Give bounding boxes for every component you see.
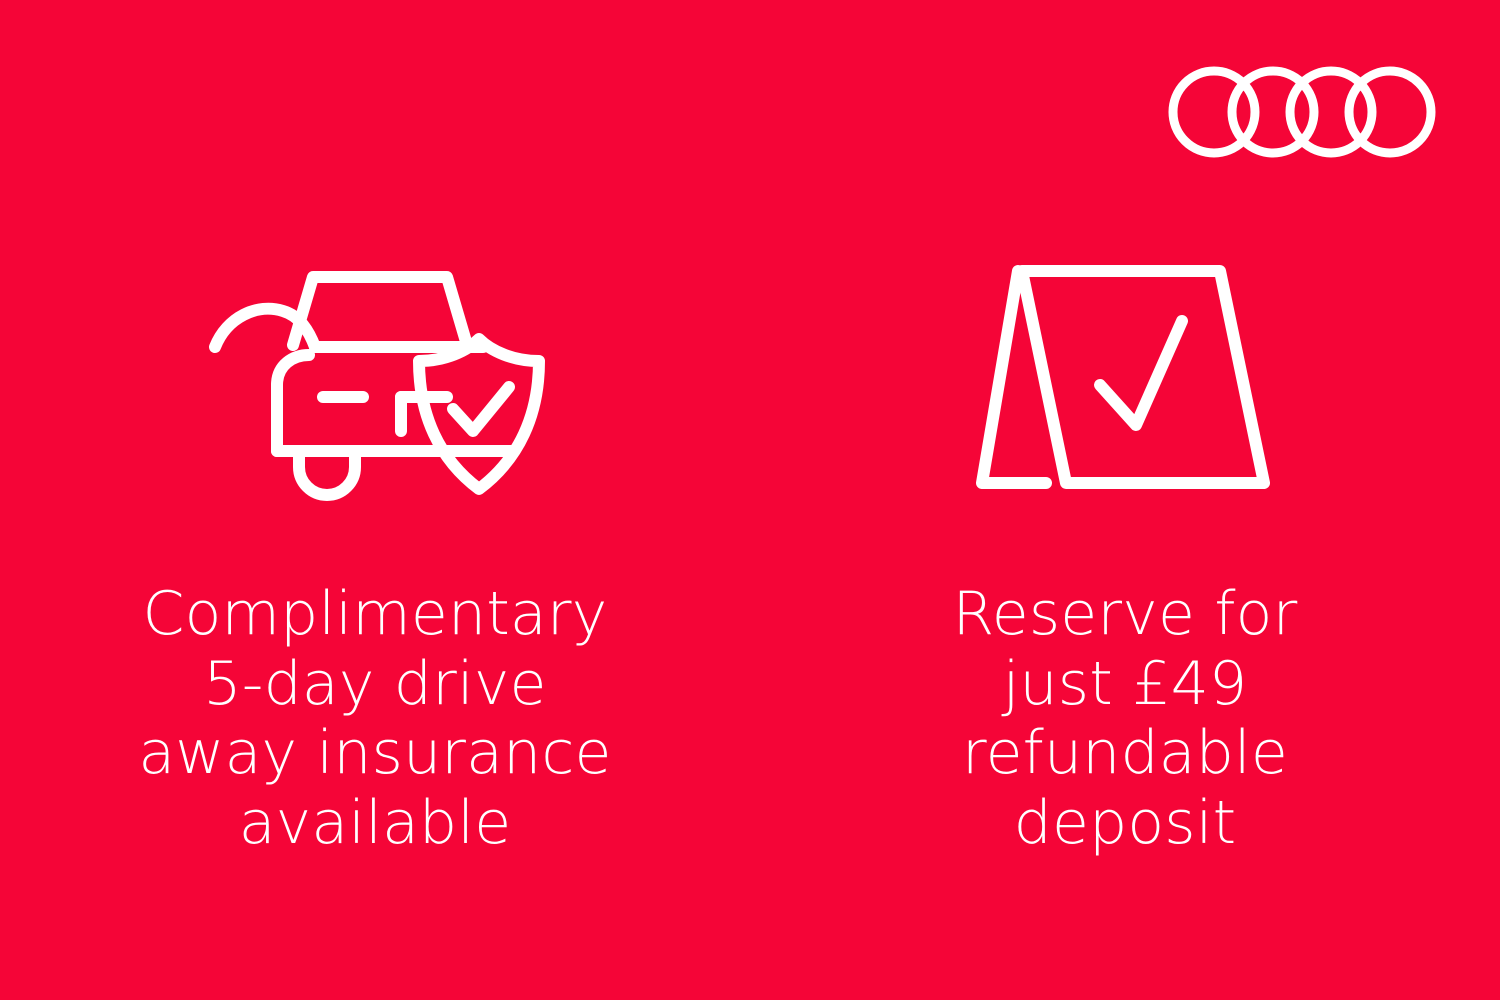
- tent-calendar-svg: [960, 255, 1290, 505]
- feature-caption-insurance: Complimentary 5-day drive away insurance…: [95, 580, 655, 858]
- feature-item-insurance: Complimentary 5-day drive away insurance…: [0, 250, 750, 858]
- audi-rings-svg: [1168, 62, 1436, 162]
- tent-calendar-check-icon: [955, 250, 1295, 510]
- promo-banner: Complimentary 5-day drive away insurance…: [0, 0, 1500, 1000]
- audi-four-rings-icon: [1168, 62, 1436, 162]
- feature-item-deposit: Reserve for just £49 refundable deposit: [750, 250, 1500, 858]
- feature-caption-deposit: Reserve for just £49 refundable deposit: [895, 580, 1355, 858]
- car-shield-svg: [205, 255, 545, 505]
- feature-list: Complimentary 5-day drive away insurance…: [0, 250, 1500, 858]
- car-shield-insurance-icon: [205, 250, 545, 510]
